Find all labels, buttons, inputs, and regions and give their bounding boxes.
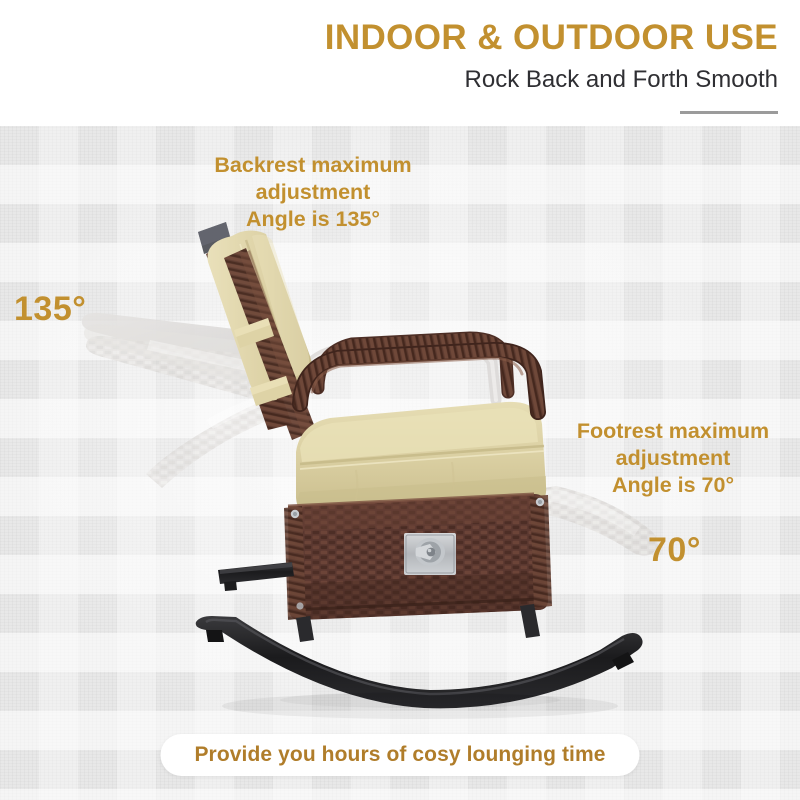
angle-label-backrest: 135° (14, 290, 86, 329)
recline-mechanism-hardware (404, 533, 456, 575)
annotation-backrest-angle: Backrest maximum adjustment Angle is 135… (193, 152, 433, 233)
page-subtitle: Rock Back and Forth Smooth (465, 66, 778, 94)
footer-pill-banner: Provide you hours of cosy lounging time (160, 734, 639, 776)
annotation-footrest-angle: Footrest maximum adjustment Angle is 70° (550, 418, 796, 499)
header-divider-rule (680, 111, 778, 114)
footer-pill-text: Provide you hours of cosy lounging time (194, 743, 605, 767)
angle-label-footrest: 70° (648, 531, 701, 570)
page-title: INDOOR & OUTDOOR USE (325, 18, 778, 58)
header-band: INDOOR & OUTDOOR USE Rock Back and Forth… (0, 0, 800, 126)
